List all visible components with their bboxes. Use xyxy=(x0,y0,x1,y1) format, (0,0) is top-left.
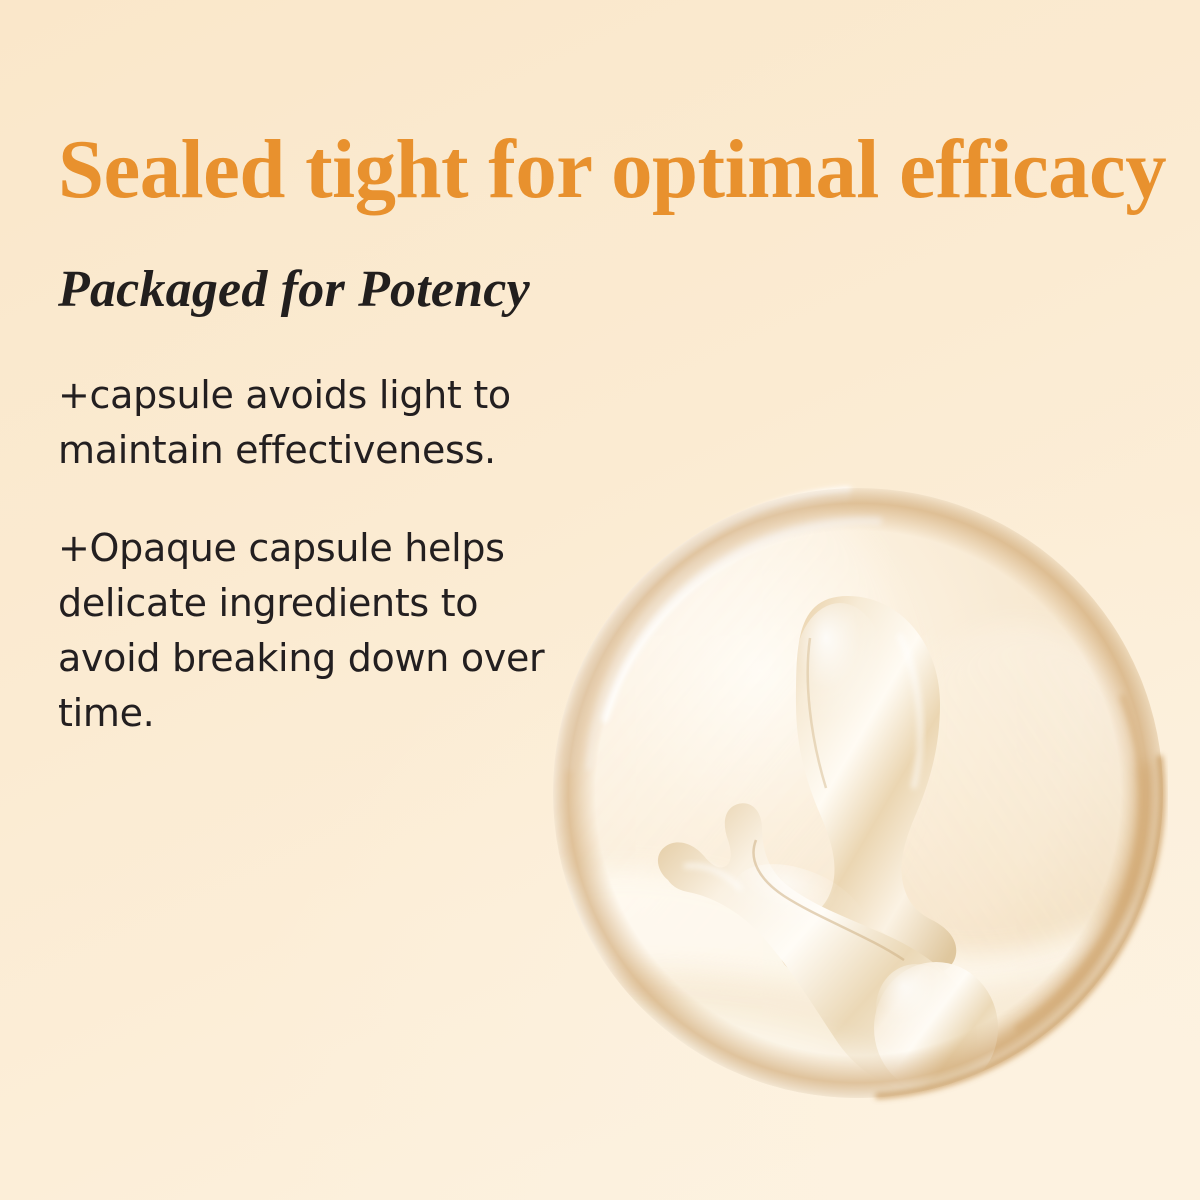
copy-block: Sealed tight for optimal efficacy Packag… xyxy=(58,128,1168,740)
page-title: Sealed tight for optimal efficacy xyxy=(58,128,1151,212)
subheading: Packaged for Potency xyxy=(58,212,1168,316)
benefit-list: +capsule avoids light to maintain effect… xyxy=(58,316,578,740)
promo-banner: Sealed tight for optimal efficacy Packag… xyxy=(0,0,1200,1200)
benefit-item-1: +capsule avoids light to maintain effect… xyxy=(58,316,578,477)
benefit-item-2: +Opaque capsule helps delicate ingredien… xyxy=(58,477,578,740)
